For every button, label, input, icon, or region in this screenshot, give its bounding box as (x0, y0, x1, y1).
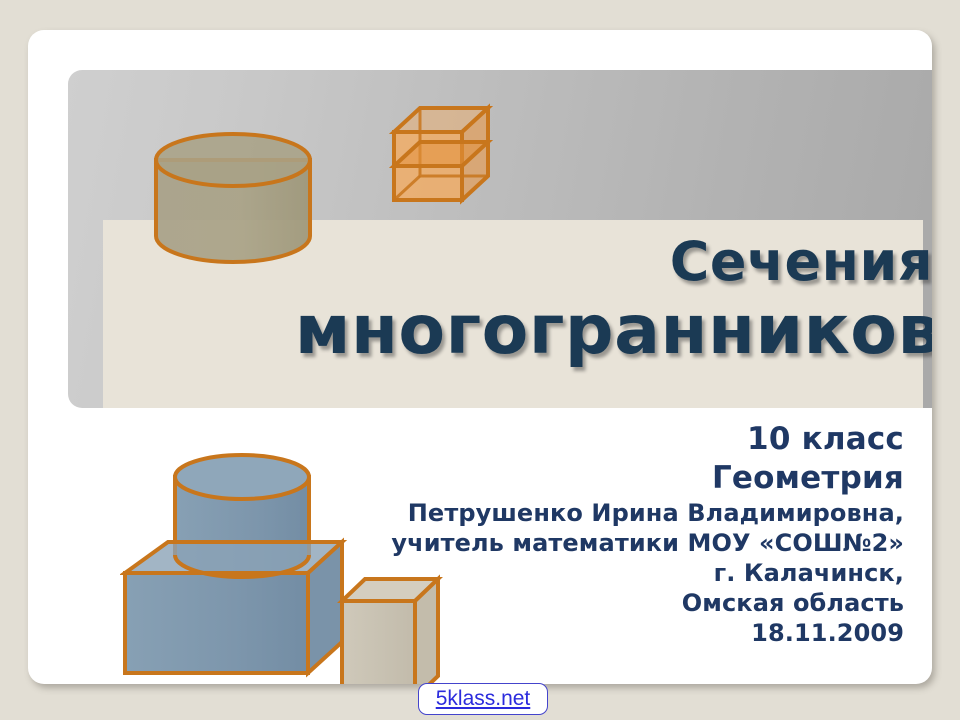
author-label: Петрушенко Ирина Владимировна, (344, 498, 904, 528)
credits-block: 10 класс Геометрия Петрушенко Ирина Влад… (344, 420, 904, 648)
blue-gray-cylinder-shape (175, 455, 309, 577)
position-label: учитель математики МОУ «СОШ№2» (344, 528, 904, 558)
title-line-1: Сечения (670, 232, 932, 292)
watermark-link[interactable]: 5klass.net (436, 687, 531, 711)
page-title: Сечения многогранников (103, 220, 932, 408)
date-label: 18.11.2009 (344, 618, 904, 648)
blue-gray-rectangular-box-shape (125, 542, 342, 673)
subject-label: Геометрия (344, 459, 904, 498)
grade-label: 10 класс (344, 420, 904, 459)
watermark-badge[interactable]: 5klass.net (418, 683, 548, 715)
region-label: Омская область (344, 588, 904, 618)
city-label: г. Калачинск, (344, 558, 904, 588)
slide-card: Сечения многогранников 10 класс Геометри… (28, 30, 932, 684)
title-line-2: многогранников (295, 293, 932, 369)
